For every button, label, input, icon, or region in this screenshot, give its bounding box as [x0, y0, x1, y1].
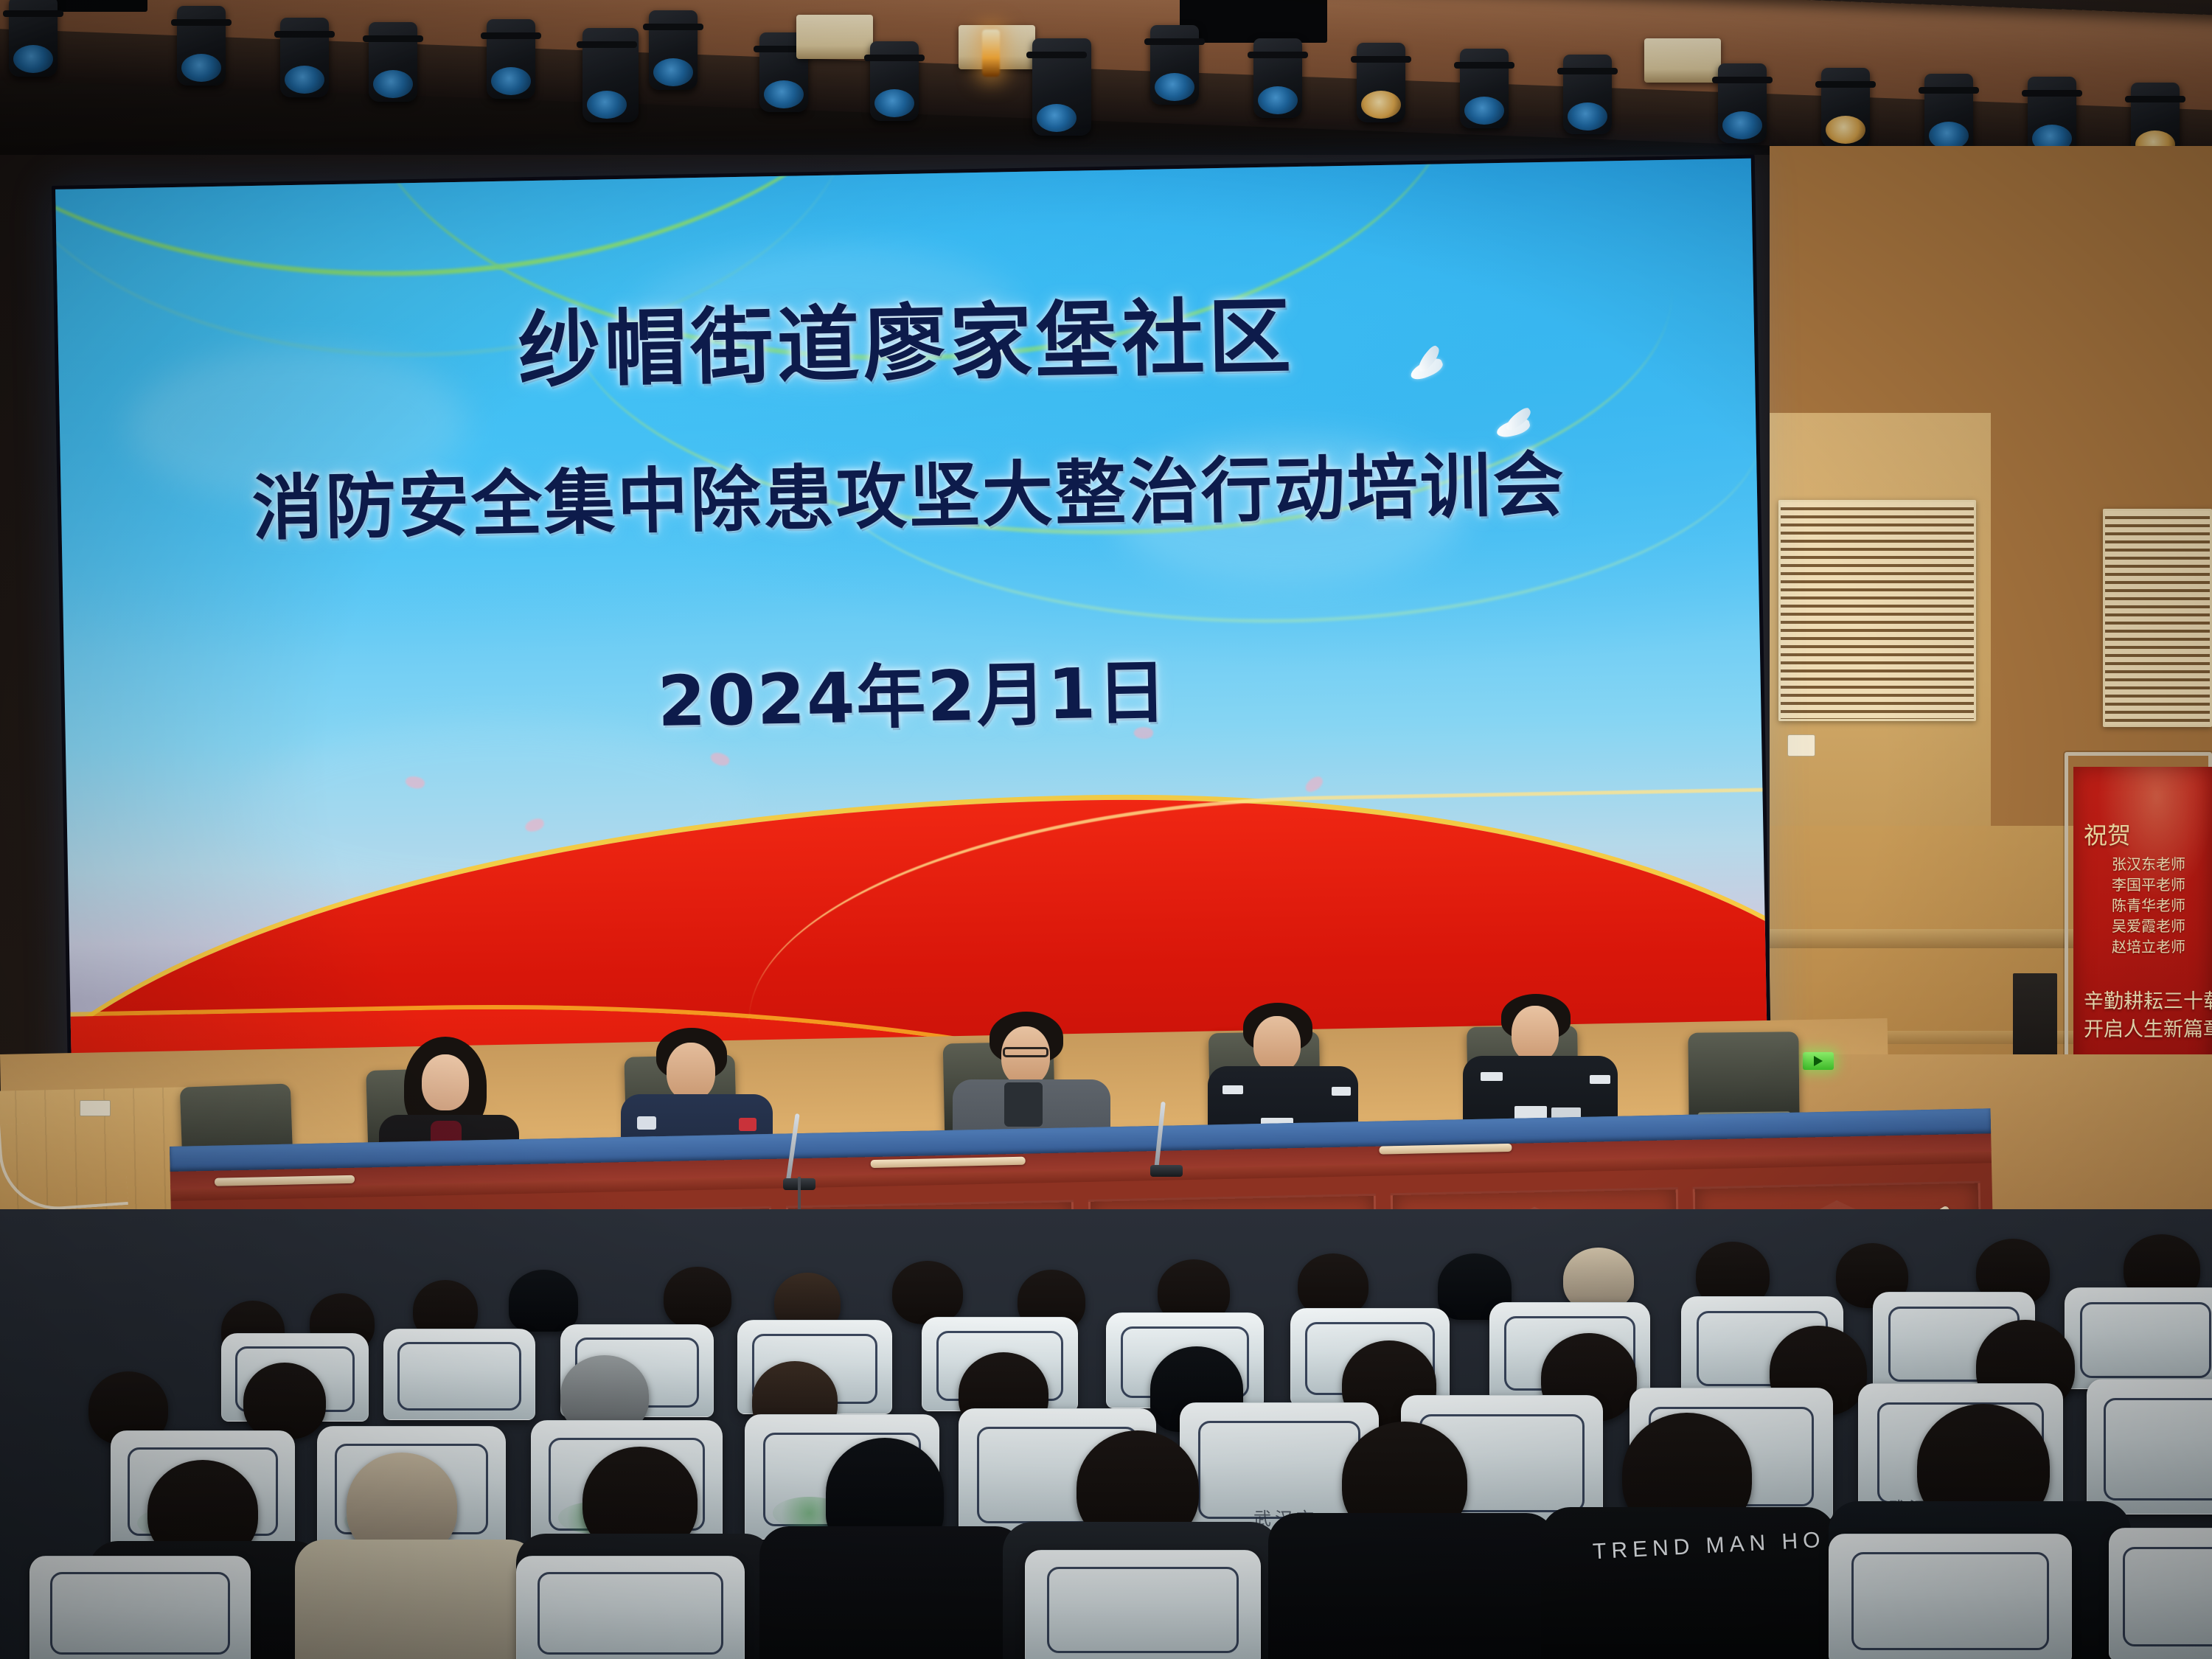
lit-lamp-glow — [982, 29, 1000, 77]
audience-seat — [1829, 1534, 2072, 1659]
banner-name: 陈青华老师 — [2112, 895, 2185, 916]
stage-light-fixture — [1718, 63, 1767, 143]
banner-couplet-line-2: 开启人生新篇章 — [2084, 1016, 2212, 1044]
stage-light-fixture — [9, 0, 58, 77]
audience-seat — [29, 1556, 251, 1659]
truss-equipment-box — [1180, 0, 1327, 43]
screen-date-line: 2024年2月1日 — [64, 626, 1761, 757]
stage-light-fixture — [1032, 38, 1091, 136]
led-screen: 纱帽街道廖家堡社区 消防安全集中除患攻坚大整治行动培训会 2024年2月1日 — [55, 159, 1767, 1089]
stage-light-fixture — [280, 18, 329, 97]
banner-name: 李国平老师 — [2112, 874, 2185, 895]
stage-light-fixture — [1253, 38, 1302, 118]
screen-petal — [1303, 774, 1326, 794]
audience-head — [892, 1261, 963, 1324]
wall-outlet-plate — [1787, 734, 1815, 757]
audience-seat — [2065, 1287, 2212, 1389]
stage-light-fixture — [649, 10, 698, 90]
stage-light-fixture — [582, 28, 639, 122]
audience-seat — [383, 1329, 535, 1420]
stage-light-fixture — [1460, 49, 1509, 128]
audience-head — [509, 1270, 578, 1332]
led-wash-panel — [796, 15, 873, 59]
audience-shoulders — [1268, 1513, 1556, 1659]
stage-light-fixture — [177, 6, 226, 86]
stage-power-outlet — [80, 1100, 111, 1116]
audience-seat — [2087, 1379, 2212, 1514]
stage-light-fixture — [1357, 43, 1405, 122]
stage-light-fixture — [870, 41, 919, 121]
audience-seat — [2109, 1528, 2212, 1659]
banner-name: 赵培立老师 — [2112, 936, 2185, 957]
exit-sign-icon — [1803, 1052, 1834, 1070]
led-wash-panel — [1644, 38, 1721, 83]
stage-light-fixture — [1924, 74, 1973, 153]
stage-light-fixture — [369, 22, 417, 102]
audience-head — [243, 1363, 326, 1439]
audience-seat — [1025, 1550, 1261, 1659]
acoustic-louver-panel — [1778, 500, 1976, 721]
acoustic-louver-panel — [2103, 509, 2212, 727]
auditorium-photo: 祝贺 张汉东老师 李国平老师 陈青华老师 吴爱霞老师 赵培立老师 辛勤耕耘三十载… — [0, 0, 2212, 1659]
audience-shoulders — [295, 1540, 538, 1659]
stage-light-fixture — [1150, 25, 1199, 105]
stage-light-fixture — [1563, 55, 1612, 134]
audience-seat — [516, 1556, 745, 1659]
audience-area: 武汉市 武汉市 TREND MAN HO — [0, 1209, 2212, 1659]
stage-light-fixture — [487, 19, 535, 99]
banner-name: 张汉东老师 — [2112, 854, 2185, 874]
banner-title: 祝贺 — [2084, 817, 2131, 851]
led-screen-frame: 纱帽街道廖家堡社区 消防安全集中除患攻坚大整治行动培训会 2024年2月1日 — [52, 155, 1771, 1093]
banner-couplet: 辛勤耕耘三十载 开启人生新篇章 — [2084, 988, 2212, 1044]
audience-shoulders — [759, 1526, 1025, 1659]
audience-head — [664, 1267, 731, 1329]
stage-light-fixture — [2028, 77, 2076, 156]
banner-name-list: 张汉东老师 李国平老师 陈青华老师 吴爱霞老师 赵培立老师 — [2112, 854, 2185, 957]
banner-name: 吴爱霞老师 — [2112, 916, 2185, 936]
stage-light-fixture — [1821, 68, 1870, 147]
microphone-base — [1150, 1165, 1183, 1177]
banner-couplet-line-1: 辛勤耕耘三十载 — [2084, 988, 2212, 1016]
